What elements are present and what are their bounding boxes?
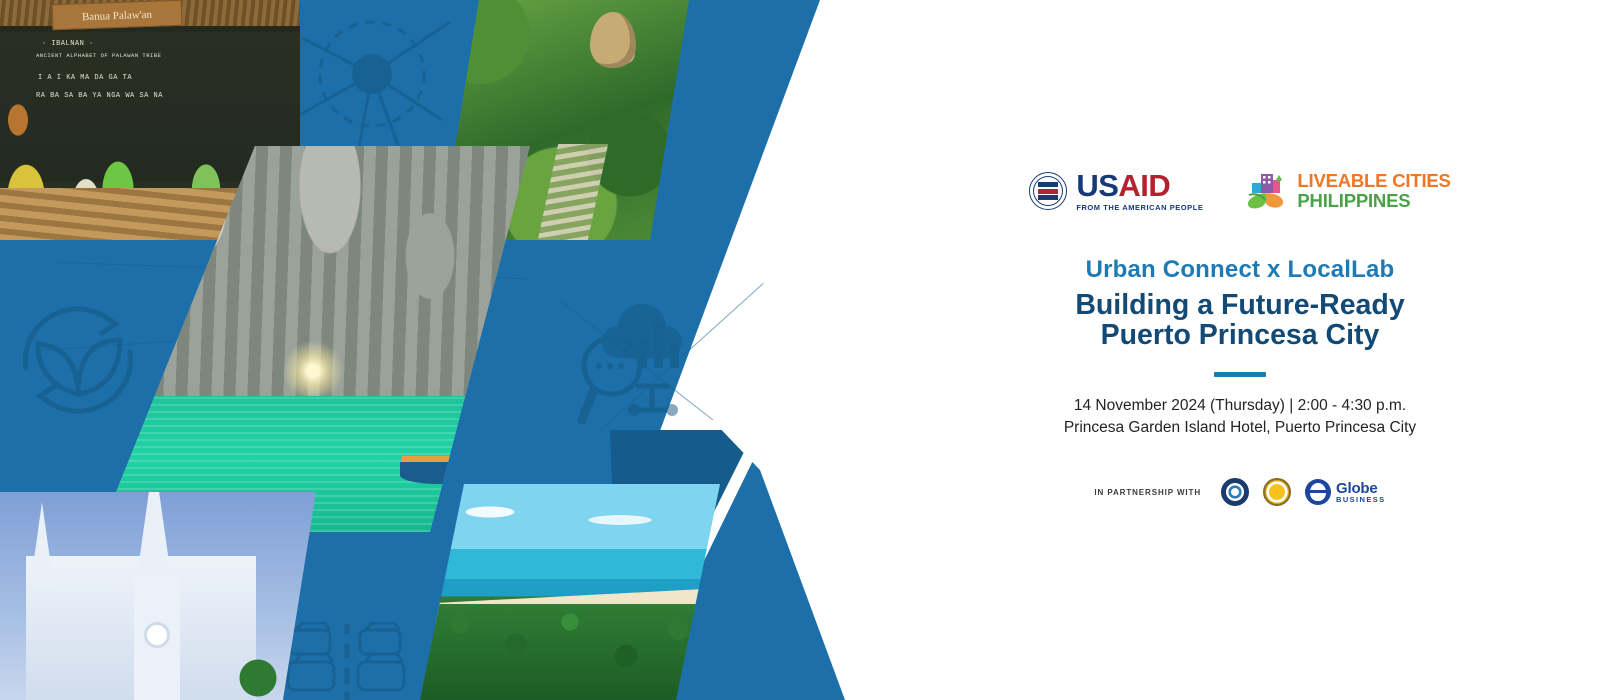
usaid-tagline: FROM THE AMERICAN PEOPLE: [1076, 204, 1203, 212]
poster-canvas: Banua Palaw'an · IBALNAN · ANCIENT ALPHA…: [0, 0, 1600, 700]
liveable-cities-philippines-logo: LIVEABLE CITIES PHILIPPINES: [1243, 171, 1450, 211]
rose-window: [144, 622, 170, 648]
board-subtitle: ANCIENT ALPHABET OF PALAWAN TRIBE: [36, 52, 161, 59]
data-analytics-icon: [572, 286, 700, 436]
usaid-seal-icon: [1029, 172, 1067, 210]
event-venue: Princesa Garden Island Hotel, Puerto Pri…: [1064, 419, 1416, 436]
lcp-line-2: PHILIPPINES: [1297, 191, 1450, 210]
board-row: I A I KA MA DA GA TA: [38, 74, 132, 82]
event-headline: Building a Future-Ready Puerto Princesa …: [1075, 290, 1404, 351]
palm-canopy: [420, 604, 720, 700]
collage-panel: Banua Palaw'an · IBALNAN · ANCIENT ALPHA…: [0, 0, 880, 700]
globe-business-logo: Globe BUSINESS: [1305, 479, 1386, 505]
headline-line-1: Building a Future-Ready: [1075, 289, 1404, 321]
content-panel: USAID FROM THE AMERICAN PEOPLE: [880, 0, 1600, 700]
cathedral-spire: [137, 492, 171, 576]
board-title: · IBALNAN ·: [42, 40, 94, 48]
cathedral-side-spire: [30, 502, 54, 588]
globe-mark-icon: [1305, 479, 1331, 505]
event-datetime: 14 November 2024 (Thursday) | 2:00 - 4:3…: [1074, 397, 1406, 414]
photo-cathedral: [0, 492, 316, 700]
cct-seal-icon: [1221, 478, 1249, 506]
globe-wordmark: Globe BUSINESS: [1336, 481, 1386, 504]
liveable-cities-mark-icon: [1243, 171, 1289, 211]
usaid-logo: USAID FROM THE AMERICAN PEOPLE: [1029, 170, 1203, 212]
divider-rule: [1214, 372, 1266, 377]
sky-clouds: [430, 500, 710, 530]
headline-line-2: Puerto Princesa City: [1101, 319, 1380, 351]
network-hub-icon: [292, 8, 452, 158]
usaid-word-aid: AID: [1118, 168, 1170, 203]
board-row: RA BA SA BA YA NGA WA SA NA: [36, 92, 163, 100]
usaid-shield-bars: [1038, 182, 1058, 200]
partners-label: IN PARTNERSHIP WITH: [1094, 488, 1201, 497]
globe-word: Globe: [1336, 481, 1386, 496]
photo-island-beach: [420, 484, 720, 700]
liveable-cities-wordmark: LIVEABLE CITIES PHILIPPINES: [1297, 171, 1450, 210]
sponsor-logo-row: USAID FROM THE AMERICAN PEOPLE: [1029, 170, 1450, 212]
event-details: 14 November 2024 (Thursday) | 2:00 - 4:3…: [1064, 395, 1416, 438]
hanging-pod: [590, 12, 636, 68]
usaid-word: USAID: [1076, 170, 1203, 201]
lcp-line-1: LIVEABLE CITIES: [1297, 171, 1450, 190]
partners-strip: IN PARTNERSHIP WITH Globe BUSINESS: [1094, 478, 1385, 506]
city-government-seal-icon: [1263, 478, 1291, 506]
banua-sign: Banua Palaw'an: [52, 0, 183, 30]
globe-sub: BUSINESS: [1336, 496, 1386, 504]
usaid-wordmark: USAID FROM THE AMERICAN PEOPLE: [1076, 170, 1203, 212]
sustainability-leaf-icon: [8, 290, 148, 430]
stone-path: [538, 144, 608, 240]
traffic-cars-icon: [284, 622, 414, 700]
event-kicker: Urban Connect x LocalLab: [1086, 256, 1395, 284]
usaid-word-us: US: [1076, 168, 1118, 203]
foreground-tree: [228, 648, 290, 700]
